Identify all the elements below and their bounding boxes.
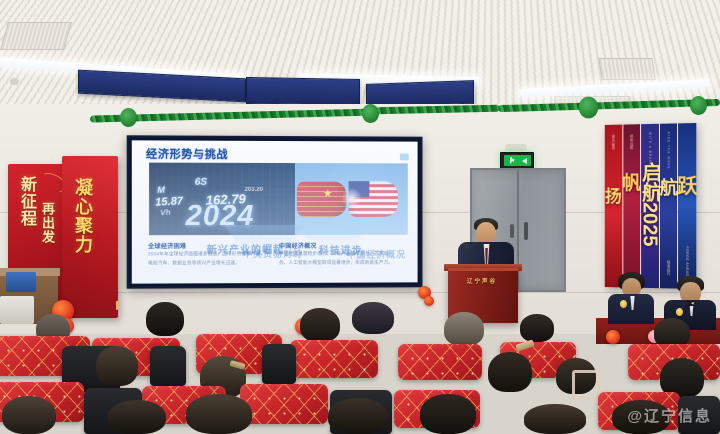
door-handle[interactable]: [510, 224, 514, 238]
projection-screen: 经济形势与挑战 M 15.87 6S 162.79 203.20 Vh 2024: [127, 135, 423, 288]
panel-subtext: 破浪前行: [666, 261, 671, 277]
audience-head: [420, 394, 476, 434]
wall-fixture: [505, 144, 527, 151]
audience-head: [488, 352, 532, 392]
presentation-slide: 经济形势与挑战 M 15.87 6S 162.79 203.20 Vh 2024: [132, 140, 418, 283]
audience-head: [108, 400, 166, 434]
panel-glyph: 启航2025: [641, 162, 658, 247]
banner-panel-4: RIDE THE WAVE 航 破浪前行: [660, 123, 678, 288]
flag-fists-graphic: ★: [295, 172, 398, 228]
smoke-detector-icon: [10, 78, 19, 85]
podium-label: 辽宁声谷: [452, 277, 512, 285]
audience-seating: [0, 300, 720, 434]
ticker-value: Vh: [159, 207, 170, 217]
ticker-value: 6S: [195, 177, 207, 188]
slide-overlay-text: 中美贸易对峙: [243, 247, 303, 260]
audience-head: [444, 312, 484, 346]
audience-head: [328, 398, 388, 434]
audience-head: [612, 400, 670, 434]
impact-flash: [340, 189, 363, 208]
ticker-value: 203.20: [245, 187, 263, 193]
hair-clip-icon: [572, 370, 600, 400]
ticker-value: M: [157, 184, 165, 194]
arrow-right-icon: [522, 158, 527, 164]
garland-tuft: [579, 97, 599, 119]
garland-tuft: [362, 104, 379, 123]
seat-back-panel: [150, 346, 186, 386]
panel-glyph: 跃: [678, 170, 696, 199]
garland-tuft: [690, 96, 707, 115]
seat-back-panel: [678, 396, 720, 434]
seat[interactable]: [240, 384, 328, 424]
panel-glyph: 扬: [605, 182, 622, 207]
star-icon: ★: [323, 189, 333, 200]
banner-panel-5: 跃 FORGE AHEAD: [678, 123, 696, 289]
panel-subtext: FORGE AHEAD: [685, 246, 689, 276]
panel-subtext: 扬帆远航: [629, 134, 634, 150]
banner-text-line2: 再出发: [38, 202, 57, 244]
audience-head: [146, 302, 184, 336]
slide-logo-icon: [400, 153, 409, 160]
exit-sign-face: [504, 155, 531, 166]
door-handle[interactable]: [524, 222, 528, 240]
photo-scene: 经济形势与挑战 M 15.87 6S 162.79 203.20 Vh 2024: [0, 0, 720, 434]
china-flag-fist-icon: ★: [297, 181, 346, 217]
panel-english: RIDE THE WAVE: [667, 132, 671, 170]
audience-head: [352, 302, 394, 334]
ceiling-vent: [598, 58, 655, 80]
exit-sign: [500, 152, 534, 169]
audience-head: [300, 308, 340, 342]
ceiling: [0, 0, 720, 118]
banner-text-line3: 凝心聚力: [70, 178, 96, 254]
financial-ticker-graphic: M 15.87 6S 162.79 203.20 Vh 2024: [149, 163, 300, 236]
seat[interactable]: [398, 344, 482, 380]
curtain-valance: [246, 77, 360, 106]
panel-glyph: 帆: [623, 168, 640, 195]
audience-head: [186, 394, 252, 434]
slide-hero-image: M 15.87 6S 162.79 203.20 Vh 2024 ★: [149, 163, 408, 236]
audience-head: [2, 396, 56, 434]
blue-equipment-case: [6, 272, 36, 292]
audience-head: [96, 346, 138, 386]
audience-head: [520, 314, 554, 342]
banner-panel-3: WITH A BRAVE 启航2025: [641, 124, 658, 288]
right-multipanel-banner: 乘风破浪 扬 扬帆远航 帆 WITH A BRAVE 启航2025 RIDE T…: [605, 123, 697, 289]
banner-panel-1: 乘风破浪 扬: [605, 125, 622, 288]
banner-text-line1: 新征程: [14, 176, 38, 227]
audience-head: [524, 404, 586, 434]
seat-back-panel: [262, 344, 296, 384]
ceiling-vent: [0, 22, 72, 50]
panel-glyph: 航: [660, 174, 678, 200]
slide-overlay-text: 中国经济概况: [347, 248, 406, 261]
banner-panel-2: 扬帆远航 帆: [623, 124, 640, 288]
panel-subtext: 乘风破浪: [611, 135, 616, 151]
seat[interactable]: [290, 340, 378, 378]
garland-tuft: [120, 108, 137, 127]
running-man-icon: [510, 157, 515, 164]
slide-title: 经济形势与挑战: [146, 145, 228, 161]
microphone-icon: [464, 244, 469, 249]
